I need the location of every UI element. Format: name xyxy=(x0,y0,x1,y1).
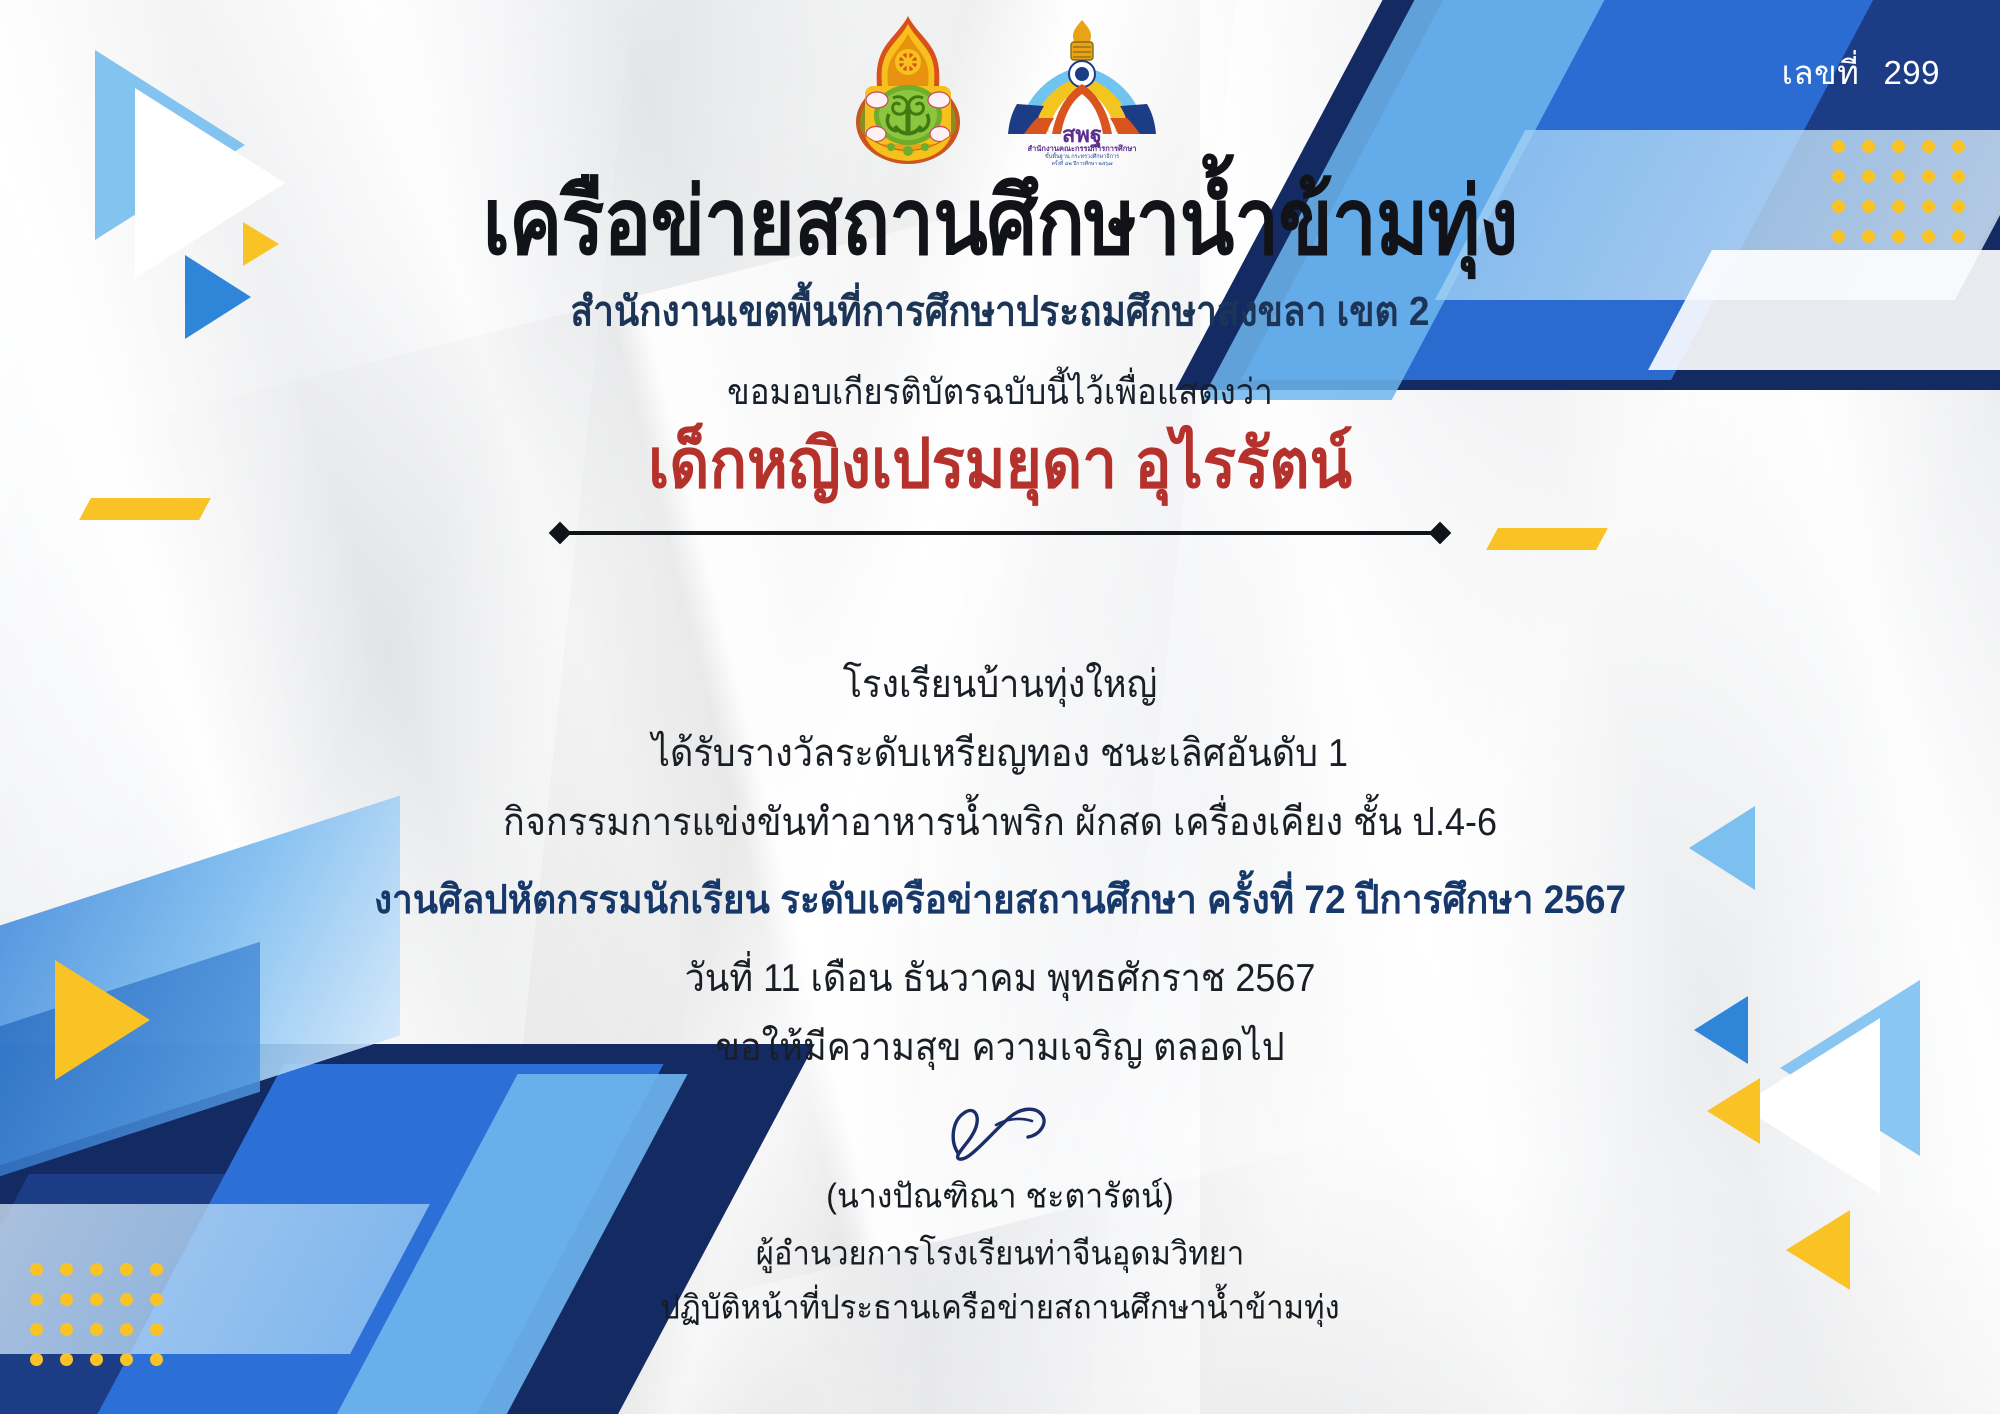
handwritten-signature xyxy=(0,1095,2000,1169)
certificate-content: เลขที่299 xyxy=(0,0,2000,1414)
body-line-award: ได้รับรางวัลระดับเหรียญทอง ชนะเลิศอันดับ… xyxy=(0,722,2000,784)
body-line-event: งานศิลปหัตกรรมนักเรียน ระดับเครือข่ายสถา… xyxy=(0,868,2000,932)
body-line-school: โรงเรียนบ้านทุ่งใหญ่ xyxy=(0,653,2000,715)
moe-emblem-logo xyxy=(843,14,973,166)
signer-role-line-2: ปฏิบัติหน้าที่ประธานเครือข่ายสถานศึกษาน้… xyxy=(0,1281,2000,1334)
svg-text:ขั้นพื้นฐาน กระทรวงศึกษาธิการ: ขั้นพื้นฐาน กระทรวงศึกษาธิการ xyxy=(1045,152,1119,160)
svg-text:สำนักงานคณะกรรมการการศึกษา: สำนักงานคณะกรรมการการศึกษา xyxy=(1027,144,1136,153)
honoree-name: เด็กหญิงเปรมยุดา อุไรรัตน์ xyxy=(0,410,2000,518)
body-line-date: วันที่ 11 เดือน ธันวาคม พุทธศักราช 2567 xyxy=(0,947,2000,1009)
obec-logo: สพฐ สำนักงานคณะกรรมการการศึกษา ขั้นพื้นฐ… xyxy=(1007,14,1157,166)
name-divider-rule xyxy=(560,531,1440,535)
honoree-block: เด็กหญิงเปรมยุดา อุไรรัตน์ xyxy=(0,415,2000,535)
signer-role-line-1: ผู้อำนวยการโรงเรียนท่าจีนอุดมวิทยา xyxy=(0,1227,2000,1280)
title-block: เครือข่ายสถานศึกษาน้ำข้ามทุ่ง สำนักงานเข… xyxy=(0,176,2000,418)
body-line-blessing: ขอให้มีความสุข ความเจริญ ตลอดไป xyxy=(0,1016,2000,1078)
certificate-canvas: เลขที่299 xyxy=(0,0,2000,1414)
office-subtitle: สำนักงานเขตพื้นที่การศึกษาประถมศึกษาสงขล… xyxy=(0,279,2000,344)
page-title: เครือข่ายสถานศึกษาน้ำข้ามทุ่ง xyxy=(0,176,2000,269)
logo-row: สพฐ สำนักงานคณะกรรมการการศึกษา ขั้นพื้นฐ… xyxy=(0,14,2000,166)
body-line-activity: กิจกรรมการแข่งขันทำอาหารน้ำพริก ผักสด เค… xyxy=(0,791,2000,853)
award-body: โรงเรียนบ้านทุ่งใหญ่ ได้รับรางวัลระดับเห… xyxy=(0,655,2000,1087)
signer-name: (นางปัณฑิณา ชะตารัตน์) xyxy=(0,1169,2000,1223)
signature-block: (นางปัณฑิณา ชะตารัตน์) ผู้อำนวยการโรงเรี… xyxy=(0,1095,2000,1332)
